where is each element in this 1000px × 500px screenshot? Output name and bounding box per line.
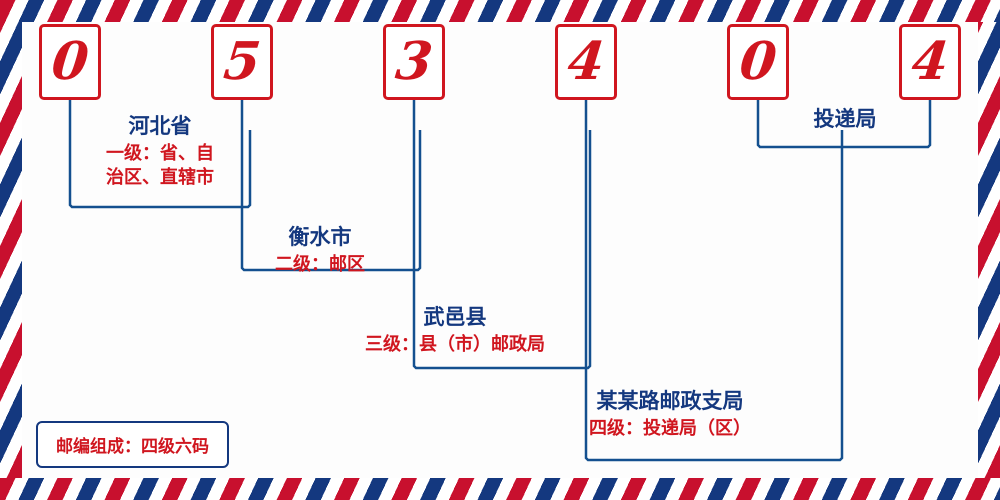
postcode-digit-1: 0 [39,24,101,100]
postcode-digit-6: 4 [899,24,961,100]
callout-subtitle-line: 治区、直辖市 [60,166,260,189]
callout-title: 某某路邮政支局 [500,388,840,414]
callout-subtitle-line: 三级：县（市）邮政局 [300,333,610,356]
callout-level-3: 武邑县 三级：县（市）邮政局 [300,304,610,357]
callout-title: 投递局 [760,106,930,132]
postcode-digit-2: 5 [211,24,273,100]
callout-title: 武邑县 [300,304,610,330]
legend-badge: 邮编组成：四级六码 [36,421,229,468]
callout-subtitle: 一级：省、自 治区、直辖市 [60,142,260,189]
postcode-digit-3: 3 [383,24,445,100]
callout-delivery-office: 投递局 [760,106,930,132]
digit-glyph: 3 [393,36,435,88]
digit-glyph: 0 [737,36,779,88]
callout-subtitle: 三级：县（市）邮政局 [300,333,610,356]
callout-subtitle: 四级：投递局（区） [500,417,840,440]
digit-glyph: 4 [909,36,951,88]
digit-glyph: 4 [565,36,607,88]
callout-title: 河北省 [60,113,260,139]
callout-subtitle-line: 二级：邮区 [190,253,450,276]
callout-title: 衡水市 [190,224,450,250]
callout-subtitle-line: 一级：省、自 [60,142,260,165]
callout-level-1: 河北省 一级：省、自 治区、直辖市 [60,113,260,189]
postcode-diagram: 0 5 3 4 0 4 河北省 一级：省、自 治区、直辖市 衡水市 二级：邮区 … [0,0,1000,500]
digit-glyph: 0 [49,36,91,88]
callout-level-4: 某某路邮政支局 四级：投递局（区） [500,388,840,441]
callout-level-2: 衡水市 二级：邮区 [190,224,450,277]
postcode-digit-5: 0 [727,24,789,100]
postcode-digit-4: 4 [555,24,617,100]
callout-subtitle-line: 四级：投递局（区） [500,417,840,440]
digit-glyph: 5 [221,36,263,88]
legend-text: 邮编组成：四级六码 [56,437,209,457]
callout-subtitle: 二级：邮区 [190,253,450,276]
